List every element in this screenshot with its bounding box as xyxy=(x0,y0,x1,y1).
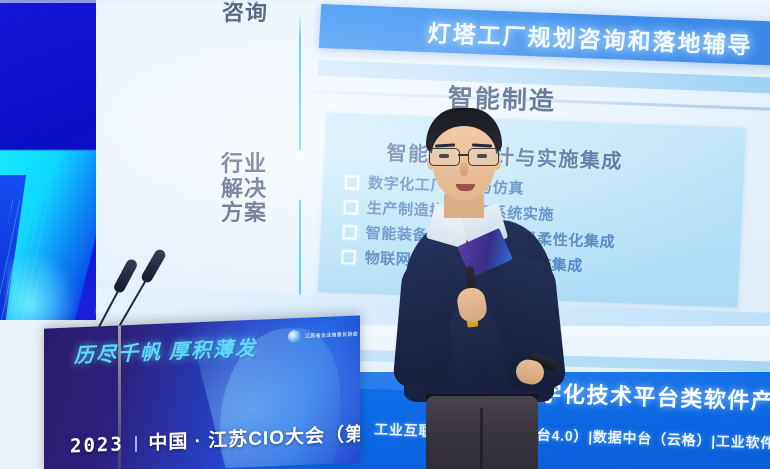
slide-label-consulting: 咨询 xyxy=(200,1,290,26)
glasses-bridge xyxy=(458,154,469,156)
slide-title-text: 灯塔工厂规划咨询和落地辅导 xyxy=(427,14,754,60)
slide-label-industry-solution: 行业 解决 方案 xyxy=(196,152,292,226)
led-wall-glow xyxy=(8,250,78,320)
presenter-nose xyxy=(460,162,468,176)
ceiling-light-strip xyxy=(0,0,770,3)
checkbox-icon xyxy=(345,175,360,189)
screenshot-root: 咨询 行业 解决 方案 灯塔工厂规划咨询和落地辅导 智能制造 智能工厂设计与实施… xyxy=(0,0,770,469)
led-wall-left xyxy=(0,0,96,320)
checkbox-icon xyxy=(344,200,359,214)
presenter: · · · xyxy=(382,108,578,469)
slide-title-band: 灯塔工厂规划咨询和落地辅导 xyxy=(319,4,770,69)
glasses-lens-right xyxy=(468,148,499,166)
checkbox-icon xyxy=(342,225,357,239)
presenter-leg-divider xyxy=(480,408,483,469)
logo-text: 江苏省企业信息化协会 xyxy=(305,330,358,339)
glasses-lens-left xyxy=(429,148,460,166)
podium: 历尽千帆 厚积薄发 江苏省企业信息化协会 2023 中国 · 江苏CIO大会（第… xyxy=(44,315,360,469)
checkbox-icon xyxy=(341,250,356,264)
event-year: 2023 xyxy=(70,433,124,457)
microphone-flag-text: · · · xyxy=(467,250,480,260)
slide-timeline-gap xyxy=(295,150,305,200)
logo-mark-icon xyxy=(288,330,301,344)
title-separator xyxy=(135,436,137,452)
